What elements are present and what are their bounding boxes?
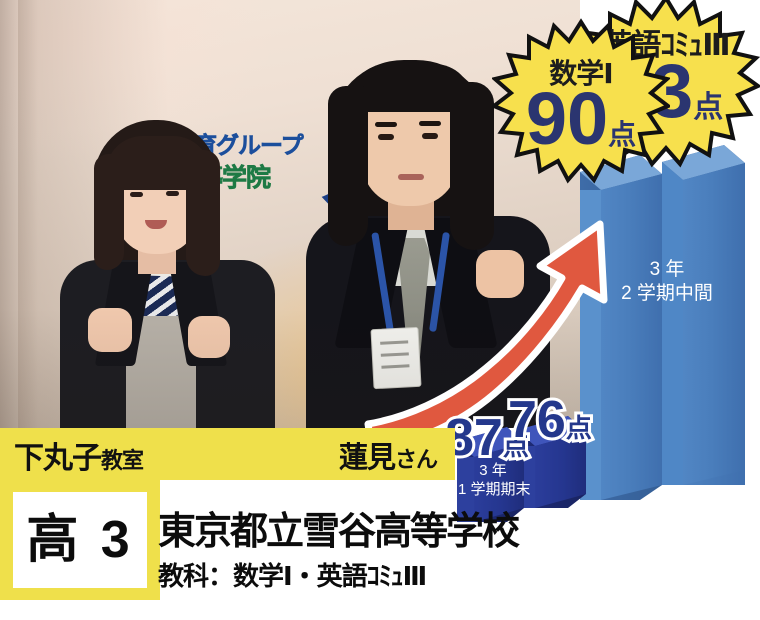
score-english-before-value: 76	[508, 391, 566, 449]
student-label: 蓮見さん	[339, 434, 437, 476]
bar-caption-after-line1: 3 年	[603, 258, 731, 282]
classroom-name: 下丸子	[14, 442, 101, 475]
teacher-eye-right	[422, 133, 438, 139]
bar-caption-after: 3 年 2 学期中間	[603, 258, 731, 306]
teacher-brow-left	[375, 122, 397, 127]
teacher-mouth	[398, 174, 424, 180]
info-band: 下丸子教室 蓮見さん	[0, 428, 455, 480]
bar-caption-after-line2: 2 学期中間	[603, 282, 731, 306]
student-hair-left	[94, 154, 124, 270]
grade-badge: 高 3	[13, 492, 147, 588]
student-hair-right	[186, 150, 220, 276]
school-name: 東京都立雪谷高等学校	[158, 500, 518, 555]
burst-math: 数学Ⅰ 90点	[492, 18, 670, 186]
burst-math-score-unit: 点	[608, 119, 636, 150]
student-eye-left	[130, 192, 143, 197]
student-fist-left	[88, 308, 132, 352]
teacher-hair-left	[328, 86, 368, 246]
classroom-suffix: 教室	[101, 448, 143, 473]
grade-value: 高 3	[26, 514, 133, 566]
burst-english-score-unit: 点	[693, 91, 723, 124]
subject-line: 教科：数学Ⅰ・英語ｺﾐｭⅢ	[158, 556, 426, 593]
classroom-label: 下丸子教室	[14, 433, 143, 477]
student-fist-right	[188, 316, 230, 358]
score-english-before: 76点	[508, 390, 592, 450]
student-name: 蓮見	[339, 442, 395, 474]
teacher-eye-left	[378, 134, 394, 140]
student-eye-right	[166, 191, 179, 196]
poster-root: 成教育グループ 別指導学院 ステ	[0, 0, 760, 620]
burst-math-score-value: 90	[526, 77, 608, 160]
bar-caption-before-line2: 1 学期期末	[458, 481, 528, 500]
score-english-before-unit: 点	[566, 413, 592, 443]
student-figure	[60, 120, 275, 428]
bar-after-math	[580, 155, 662, 500]
student-name-suffix: さん	[395, 447, 437, 472]
teacher-id-badge	[370, 327, 421, 389]
bar-after-english	[662, 145, 745, 485]
burst-math-score: 90点	[492, 76, 670, 161]
teacher-fist	[476, 250, 524, 298]
teacher-brow-right	[419, 121, 441, 126]
teacher-hair-right	[450, 82, 494, 250]
